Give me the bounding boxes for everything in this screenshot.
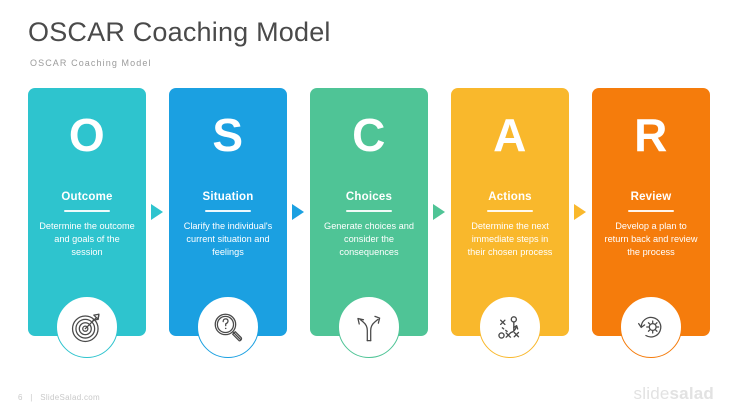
card-letter: C (318, 112, 420, 158)
card-divider (487, 210, 533, 212)
page-number: 6 (18, 393, 23, 402)
arrow-triangle-icon (292, 204, 304, 220)
oscar-cards-row: O Outcome Determine the outcome and goal… (28, 88, 710, 363)
card-heading: Outcome (36, 191, 138, 203)
arrow-triangle-icon (574, 204, 586, 220)
icon-bubble-outcome (56, 296, 118, 358)
card-description: Develop a plan to return back and review… (600, 220, 702, 259)
arrow-situation-to-choices (291, 88, 307, 363)
arrow-triangle-icon (151, 204, 163, 220)
card-divider (205, 210, 251, 212)
logo-text-bold: salad (670, 384, 714, 403)
card-letter: A (459, 112, 561, 158)
forked-path-icon (352, 310, 386, 344)
card-review[interactable]: R Review Develop a plan to return back a… (592, 88, 710, 363)
magnifier-question-icon (211, 310, 245, 344)
card-letter: S (177, 112, 279, 158)
icon-bubble-review (620, 296, 682, 358)
card-letter: O (36, 112, 138, 158)
card-actions[interactable]: A Actions Determine the next immediate s… (451, 88, 569, 363)
card-heading: Review (600, 191, 702, 203)
footer-site: SlideSalad.com (40, 393, 100, 402)
icon-bubble-actions (479, 296, 541, 358)
card-description: Generate choices and consider the conseq… (318, 220, 420, 259)
gear-refresh-icon (634, 310, 668, 344)
card-heading: Choices (318, 191, 420, 203)
card-outcome[interactable]: O Outcome Determine the outcome and goal… (28, 88, 146, 363)
card-description: Clarify the individual's current situati… (177, 220, 279, 259)
footer-separator: | (30, 393, 32, 402)
slide-canvas: OSCAR Coaching Model OSCAR Coaching Mode… (0, 0, 736, 414)
strategy-playbook-icon (493, 310, 527, 344)
icon-bubble-choices (338, 296, 400, 358)
arrow-triangle-icon (433, 204, 445, 220)
card-divider (64, 210, 110, 212)
card-description: Determine the next immediate steps in th… (459, 220, 561, 259)
arrow-choices-to-actions (432, 88, 448, 363)
footer-credit: 6 | SlideSalad.com (18, 393, 100, 402)
slide-header: OSCAR Coaching Model OSCAR Coaching Mode… (28, 18, 628, 68)
card-divider (628, 210, 674, 212)
card-choices[interactable]: C Choices Generate choices and consider … (310, 88, 428, 363)
slidesalad-logo: slidesalad (634, 384, 714, 404)
card-heading: Situation (177, 191, 279, 203)
icon-bubble-situation (197, 296, 259, 358)
card-heading: Actions (459, 191, 561, 203)
arrow-actions-to-review (573, 88, 589, 363)
card-divider (346, 210, 392, 212)
page-title: OSCAR Coaching Model (28, 18, 628, 48)
arrow-outcome-to-situation (150, 88, 166, 363)
card-description: Determine the outcome and goals of the s… (36, 220, 138, 259)
card-situation[interactable]: S Situation Clarify the individual's cur… (169, 88, 287, 363)
card-letter: R (600, 112, 702, 158)
page-subtitle: OSCAR Coaching Model (30, 58, 628, 68)
logo-text-light: slide (634, 384, 670, 403)
target-icon (70, 310, 104, 344)
